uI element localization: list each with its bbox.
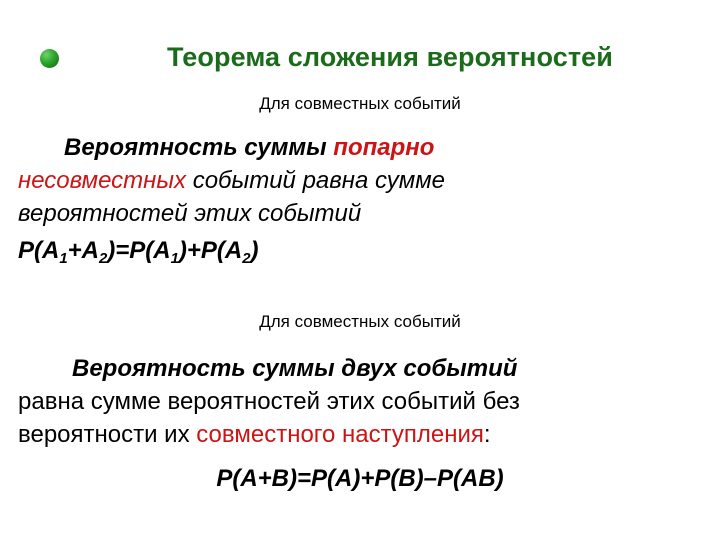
- formula-1-seg-3: )=P(A: [107, 237, 170, 264]
- section-two-line-3-a: вероятности их: [18, 421, 196, 448]
- formula-1-seg-2: +A: [68, 237, 99, 264]
- section-one-body-part-5: вероятностей этих событий: [18, 197, 702, 230]
- page-title: Теорема сложения вероятностей: [90, 40, 690, 74]
- formula-1-sub-4: 2: [242, 251, 250, 267]
- section-one-body-part-4: событий равна сумме: [186, 167, 445, 194]
- title-row: Теорема сложения вероятностей: [0, 40, 720, 84]
- section-one-body-part-2-red: попарно: [333, 134, 434, 161]
- formula-joint-events: P(A+B)=P(A)+P(B)–P(AB): [0, 464, 720, 494]
- section-two-line-3-red: совместного наступления: [196, 421, 484, 448]
- formula-1-seg-4: )+P(A: [179, 237, 242, 264]
- green-sphere-bullet-icon: [40, 49, 59, 68]
- section-two-caption: Для совместных событий: [0, 311, 720, 333]
- formula-1-seg-1: P(A: [18, 237, 59, 264]
- section-one-caption: Для совместных событий: [0, 93, 720, 115]
- formula-1-sub-3: 1: [171, 251, 179, 267]
- section-one-body-part-3-red: несовместных: [18, 167, 186, 194]
- formula-1-seg-5: ): [251, 237, 259, 264]
- section-one-body: Вероятность суммы попарно несовместных с…: [18, 131, 702, 230]
- section-two-line-2: равна сумме вероятностей этих событий бе…: [18, 385, 702, 418]
- formula-disjoint-events: P(A1+A2)=P(A1)+P(A2): [18, 236, 259, 266]
- section-two-body: Вероятность суммы двух событий равна сум…: [18, 352, 702, 451]
- section-one-body-part-1: Вероятность суммы: [64, 134, 333, 161]
- section-two-line-3-b: :: [484, 421, 491, 448]
- section-two-headline: Вероятность суммы двух событий: [18, 352, 702, 385]
- slide-canvas: Теорема сложения вероятностей Для совмес…: [0, 0, 720, 540]
- formula-1-sub-1: 1: [59, 251, 67, 267]
